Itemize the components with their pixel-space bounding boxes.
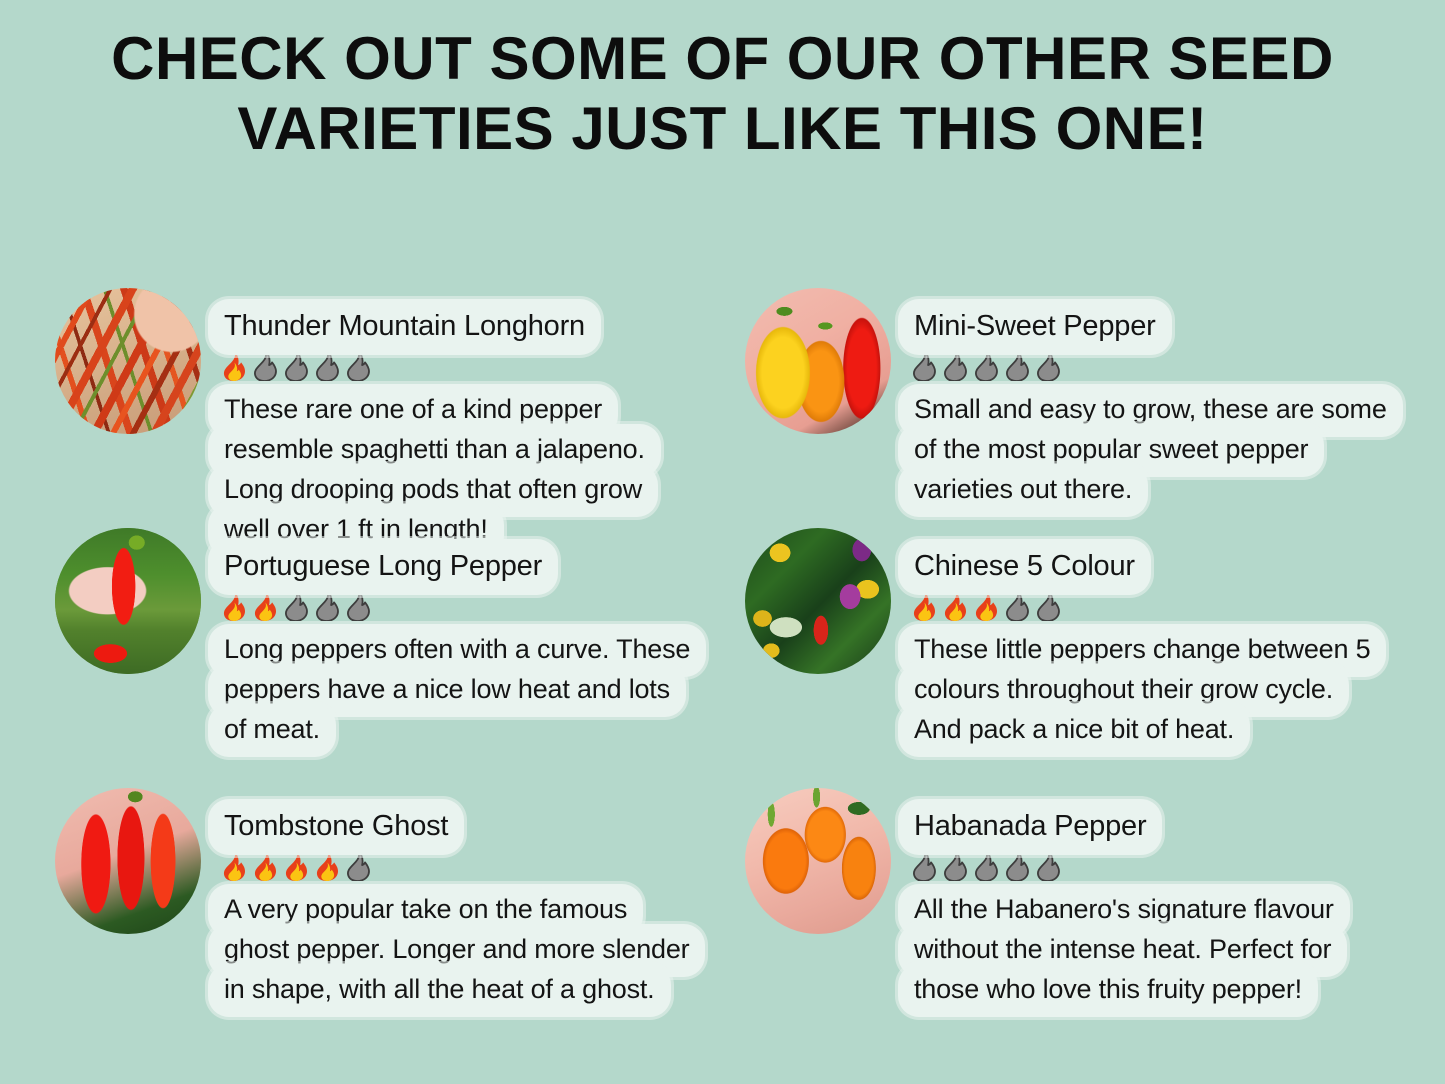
flame-unlit-icon <box>940 349 970 381</box>
seed-variety-card-tombstone-ghost[interactable]: Tombstone Ghost A very popular take on t… <box>55 776 745 1011</box>
seed-variety-card-habanada-pepper[interactable]: Habanada Pepper All the Habanero's signa… <box>745 776 1440 1011</box>
description-line-3: Long drooping pods that often grow <box>215 471 651 510</box>
description-line-2: without the intense heat. Perfect for <box>905 931 1340 970</box>
variety-name: Habanada Pepper <box>905 806 1343 848</box>
variety-info: Mini-Sweet Pepper Small and easy to grow… <box>905 276 1396 511</box>
flame-unlit-icon <box>1033 849 1063 881</box>
variety-photo-thunder-mountain-longhorn <box>55 288 201 434</box>
flame-unlit-icon <box>312 349 342 381</box>
variety-photo <box>745 288 891 434</box>
page-title-line-2: VARIETIES JUST LIKE THIS ONE! <box>0 94 1445 164</box>
heat-rating-1-of-5 <box>215 349 654 383</box>
variety-description: Long peppers often with a curve. Thesepe… <box>215 631 699 750</box>
variety-photo <box>745 788 891 934</box>
variety-info: Thunder Mountain Longhorn These rare one… <box>215 276 654 551</box>
flame-lit-icon <box>971 589 1001 621</box>
flame-unlit-icon <box>343 589 373 621</box>
heat-rating-2-of-5 <box>215 589 699 623</box>
flame-lit-icon <box>219 589 249 621</box>
flame-unlit-icon <box>909 849 939 881</box>
description-line-3: of meat. <box>215 711 329 750</box>
flame-unlit-icon <box>250 349 280 381</box>
flame-lit-icon <box>281 849 311 881</box>
description-line-1: Small and easy to grow, these are some <box>905 391 1396 430</box>
flame-lit-icon <box>909 589 939 621</box>
description-line-1: All the Habanero's signature flavour <box>905 891 1343 930</box>
heat-rating-4-of-5 <box>215 849 698 883</box>
variety-photo <box>745 528 891 674</box>
flame-lit-icon <box>250 589 280 621</box>
description-line-1: Long peppers often with a curve. These <box>215 631 699 670</box>
variety-photo-tombstone-ghost <box>55 788 201 934</box>
flame-unlit-icon <box>312 589 342 621</box>
variety-info: Habanada Pepper All the Habanero's signa… <box>905 776 1343 1011</box>
description-line-1: These little peppers change between 5 <box>905 631 1379 670</box>
heat-rating-0-of-5 <box>905 849 1343 883</box>
variety-photo <box>55 288 201 434</box>
seed-variety-card-mini-sweet-pepper[interactable]: Mini-Sweet Pepper Small and easy to grow… <box>745 276 1440 511</box>
variety-photo-habanada-pepper <box>745 788 891 934</box>
seed-variety-grid: Thunder Mountain Longhorn These rare one… <box>0 276 1445 1036</box>
variety-photo <box>55 788 201 934</box>
variety-name: Chinese 5 Colour <box>905 546 1379 588</box>
variety-photo-mini-sweet-pepper <box>745 288 891 434</box>
variety-photo-portuguese-long-pepper <box>55 528 201 674</box>
variety-photo-chinese-5-colour <box>745 528 891 674</box>
flame-lit-icon <box>940 589 970 621</box>
page-title: CHECK OUT SOME OF OUR OTHER SEED VARIETI… <box>0 24 1445 164</box>
variety-description: These little peppers change between 5col… <box>905 631 1379 750</box>
variety-name: Mini-Sweet Pepper <box>905 306 1396 348</box>
variety-photo <box>55 528 201 674</box>
description-line-3: those who love this fruity pepper! <box>905 971 1311 1010</box>
flame-lit-icon <box>219 349 249 381</box>
page-title-line-1: CHECK OUT SOME OF OUR OTHER SEED <box>0 24 1445 94</box>
flame-unlit-icon <box>1002 349 1032 381</box>
description-line-2: of the most popular sweet pepper <box>905 431 1317 470</box>
description-line-2: colours throughout their grow cycle. <box>905 671 1342 710</box>
description-line-2: resemble spaghetti than a jalapeno. <box>215 431 654 470</box>
description-line-3: varieties out there. <box>905 471 1141 510</box>
flame-unlit-icon <box>971 349 1001 381</box>
heat-rating-0-of-5 <box>905 349 1396 383</box>
flame-lit-icon <box>219 849 249 881</box>
variety-description: All the Habanero's signature flavourwith… <box>905 891 1343 1010</box>
flame-unlit-icon <box>281 589 311 621</box>
flame-unlit-icon <box>1033 349 1063 381</box>
variety-info: Chinese 5 Colour These little peppers ch… <box>905 516 1379 751</box>
flame-lit-icon <box>250 849 280 881</box>
flame-unlit-icon <box>343 849 373 881</box>
flame-unlit-icon <box>971 849 1001 881</box>
flame-unlit-icon <box>281 349 311 381</box>
variety-info: Tombstone Ghost A very popular take on t… <box>215 776 698 1011</box>
seed-variety-card-thunder-mountain-longhorn[interactable]: Thunder Mountain Longhorn These rare one… <box>55 276 745 551</box>
flame-unlit-icon <box>343 349 373 381</box>
flame-unlit-icon <box>1033 589 1063 621</box>
description-line-1: These rare one of a kind pepper <box>215 391 611 430</box>
flame-unlit-icon <box>1002 589 1032 621</box>
description-line-3: in shape, with all the heat of a ghost. <box>215 971 664 1010</box>
seed-variety-card-portuguese-long-pepper[interactable]: Portuguese Long Pepper Long peppers ofte… <box>55 516 745 751</box>
flame-lit-icon <box>312 849 342 881</box>
variety-description: Small and easy to grow, these are someof… <box>905 391 1396 510</box>
variety-name: Tombstone Ghost <box>215 806 698 848</box>
variety-description: A very popular take on the famousghost p… <box>215 891 698 1010</box>
flame-unlit-icon <box>909 349 939 381</box>
variety-name: Portuguese Long Pepper <box>215 546 699 588</box>
flame-unlit-icon <box>1002 849 1032 881</box>
heat-rating-3-of-5 <box>905 589 1379 623</box>
variety-info: Portuguese Long Pepper Long peppers ofte… <box>215 516 699 751</box>
variety-name: Thunder Mountain Longhorn <box>215 306 654 348</box>
description-line-2: ghost pepper. Longer and more slender <box>215 931 698 970</box>
description-line-1: A very popular take on the famous <box>215 891 636 930</box>
description-line-3: And pack a nice bit of heat. <box>905 711 1243 750</box>
seed-variety-card-chinese-5-colour[interactable]: Chinese 5 Colour These little peppers ch… <box>745 516 1440 751</box>
description-line-2: peppers have a nice low heat and lots <box>215 671 679 710</box>
flame-unlit-icon <box>940 849 970 881</box>
